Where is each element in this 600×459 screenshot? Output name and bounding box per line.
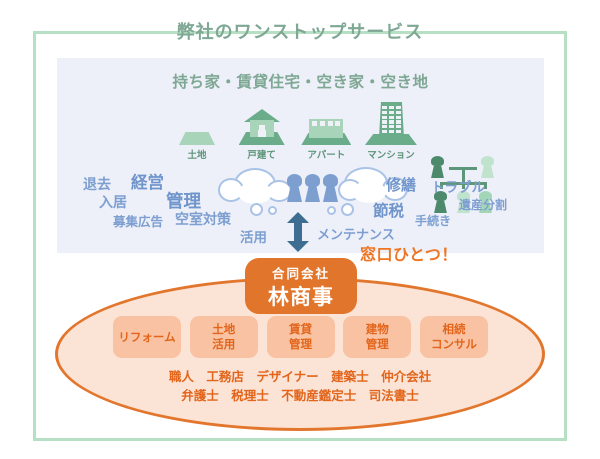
- one-window-callout: 窓口ひとつ！: [360, 241, 458, 265]
- keyword-kushitsu-taisaku: 空室対策: [175, 209, 231, 229]
- service-pill-reform-line1: リフォーム: [118, 330, 175, 345]
- property-label-detached-house: 戸建て: [234, 147, 290, 161]
- land-icon: [169, 101, 225, 145]
- service-pill-inheritance-consulting-line2: コンサル: [431, 337, 477, 352]
- keyword-boshu-kokoku: 募集広告: [113, 211, 163, 230]
- service-pill-land-utilization-line2: 活用: [212, 337, 235, 352]
- thought-cloud-left: [218, 168, 294, 206]
- person-icon-1: [287, 174, 302, 202]
- property-label-land: 土地: [169, 147, 225, 161]
- service-pill-building-management-line2: 管理: [366, 337, 389, 352]
- service-pill-row: リフォーム 土地 活用 賃貸 管理 建物 管理 相続 コンサル: [113, 316, 488, 358]
- condominium-icon: [363, 101, 419, 145]
- keyword-taikyo: 退去: [83, 174, 111, 194]
- service-pill-land-utilization-line1: 土地: [212, 322, 235, 337]
- service-pill-rental-management[interactable]: 賃貸 管理: [267, 316, 335, 358]
- service-pill-rental-management-line1: 賃貸: [289, 322, 312, 337]
- panel-heading: 持ち家・賃貸住宅・空き家・空き地: [57, 70, 544, 92]
- keyword-trouble: トラブル: [431, 176, 485, 196]
- property-item-detached-house: 戸建て: [234, 101, 290, 161]
- property-icon-row: 土地 戸建て: [169, 99, 419, 161]
- service-pill-rental-management-line2: 管理: [289, 337, 312, 352]
- keyword-katsuyo: 活用: [240, 226, 267, 246]
- company-prefix: 合同会社: [245, 263, 357, 282]
- cloud-dot-right-small: [327, 206, 336, 215]
- service-pill-inheritance-consulting-line1: 相続: [443, 322, 466, 337]
- company-name: 林商事: [245, 281, 357, 311]
- service-pill-land-utilization[interactable]: 土地 活用: [190, 316, 258, 358]
- property-label-condominium: マンション: [363, 147, 419, 161]
- detached-house-icon: [234, 101, 290, 145]
- person-icon-2: [305, 174, 320, 202]
- partner-list: 職人 工務店 デザイナー 建築士 仲介会社 弁護士 税理士 不動産鑑定士 司法書…: [0, 367, 600, 405]
- property-item-apartment: アパート: [298, 101, 354, 161]
- service-pill-inheritance-consulting[interactable]: 相続 コンサル: [420, 316, 488, 358]
- keyword-nyukyo: 入居: [99, 192, 127, 212]
- cloud-dot-left-small: [268, 206, 277, 215]
- keyword-shuzen: 修繕: [386, 174, 416, 195]
- cloud-dot-right-large: [341, 203, 354, 216]
- company-badge: 合同会社 林商事: [245, 258, 357, 314]
- cloud-dot-left-large: [250, 203, 263, 216]
- page-title: 弊社のワンストップサービス: [0, 18, 600, 44]
- keyword-keiei: 経営: [131, 169, 164, 193]
- double-headed-vertical-arrow-icon: [287, 212, 309, 252]
- service-pill-building-management[interactable]: 建物 管理: [343, 316, 411, 358]
- diagram-canvas: 弊社のワンストップサービス 持ち家・賃貸住宅・空き家・空き地 土地: [0, 0, 600, 459]
- service-pill-reform[interactable]: リフォーム: [113, 316, 181, 358]
- property-label-apartment: アパート: [298, 147, 354, 161]
- person-icon-3: [323, 174, 338, 202]
- apartment-icon: [298, 101, 354, 145]
- property-item-condominium: マンション: [363, 101, 419, 161]
- service-pill-building-management-line1: 建物: [366, 322, 389, 337]
- partner-list-row-1: 職人 工務店 デザイナー 建築士 仲介会社: [0, 367, 600, 386]
- property-item-land: 土地: [169, 101, 225, 161]
- partner-list-row-2: 弁護士 税理士 不動産鑑定士 司法書士: [0, 386, 600, 405]
- keyword-tetsuzuki: 手続き: [415, 212, 451, 229]
- keyword-isan-bunkatsu: 遺産分割: [459, 196, 507, 213]
- keyword-setsuzei: 節税: [373, 199, 404, 221]
